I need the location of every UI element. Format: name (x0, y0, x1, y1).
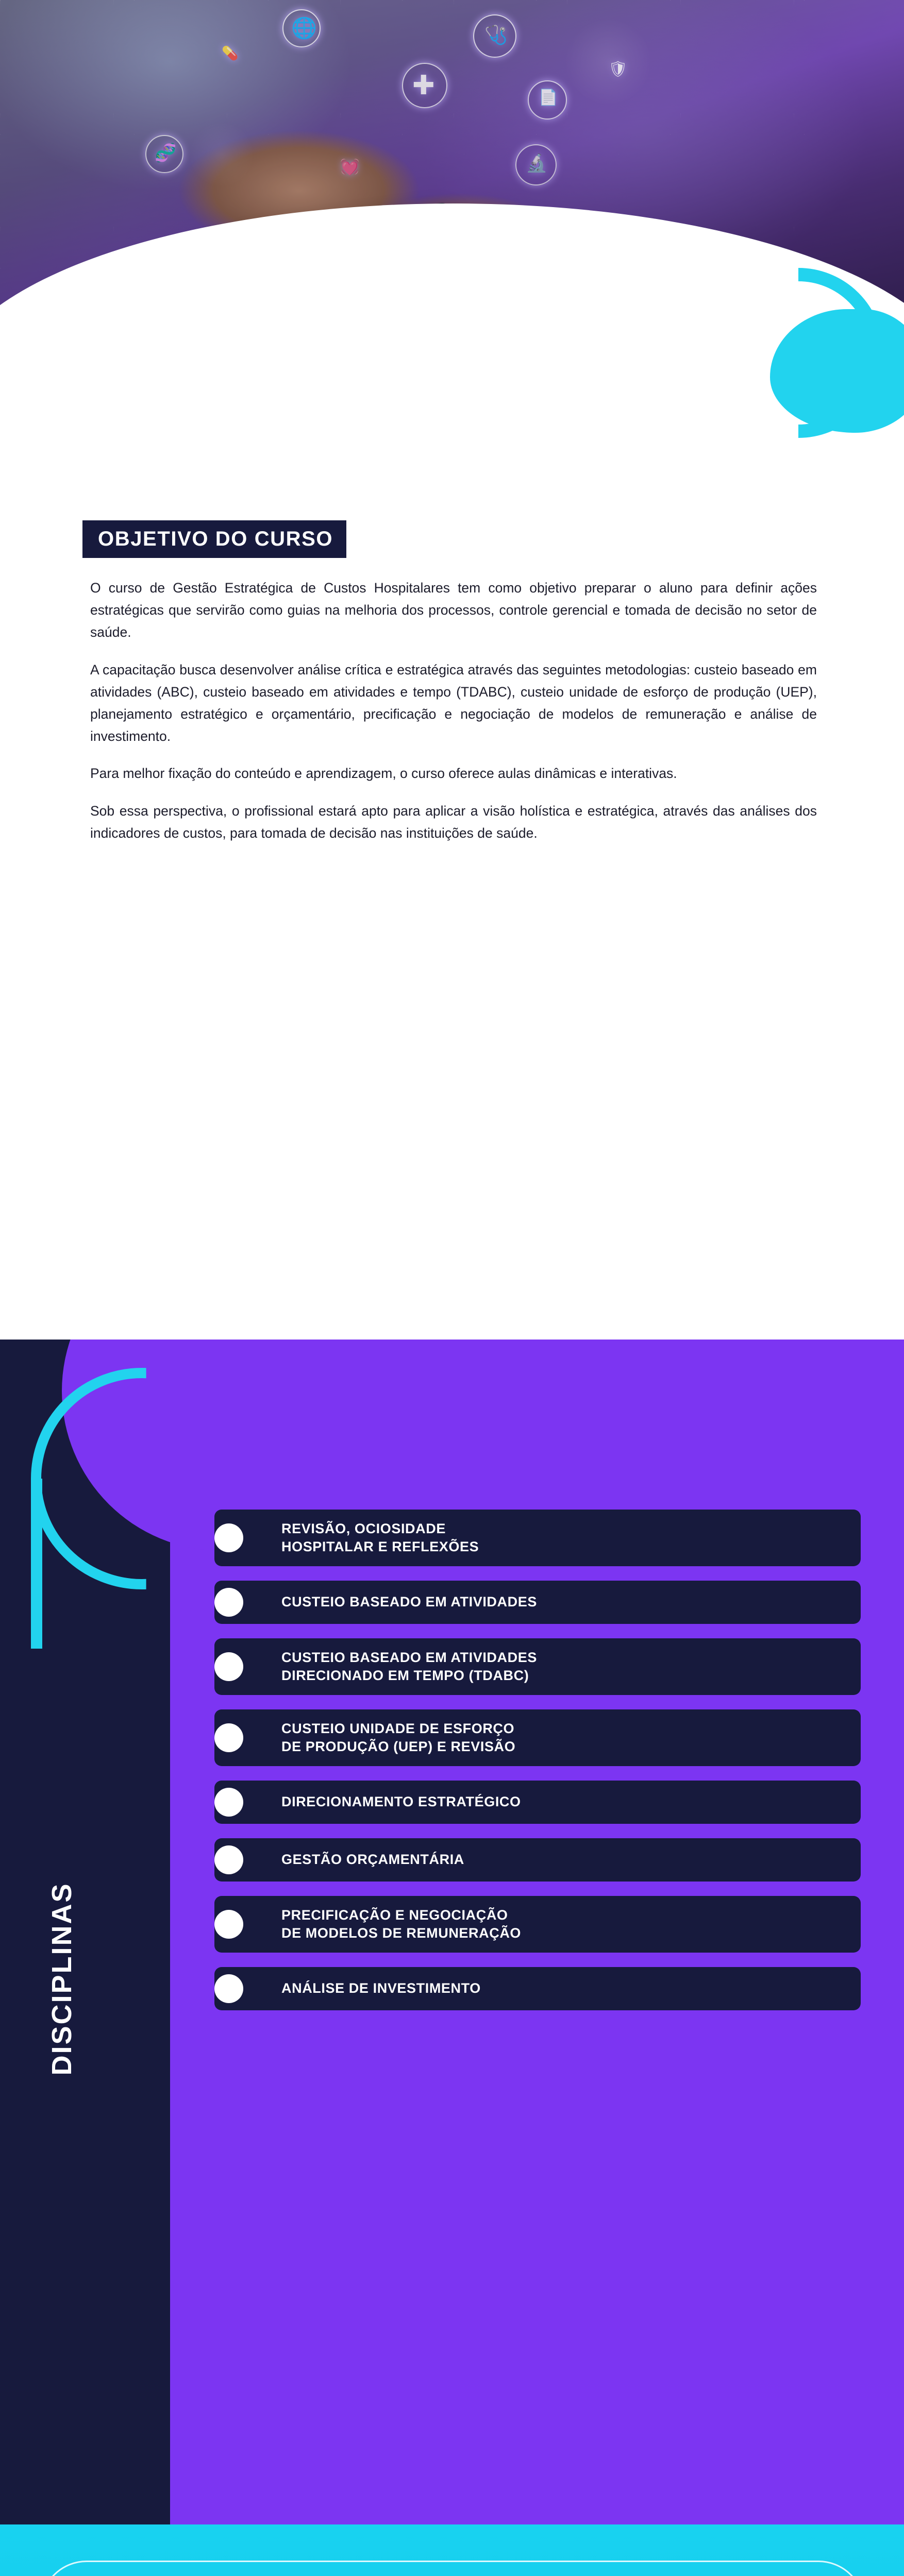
list-item: DIRECIONAMENTO ESTRATÉGICO (196, 1781, 861, 1824)
course-flyer-page: 🌐 ✚ 🩺 🧬 💓 🔬 📄 💊 🛡 OBJ (0, 0, 904, 2576)
hero-white-curve (0, 204, 904, 495)
objective-paragraph-3: Para melhor fixação do conteúdo e aprend… (90, 762, 817, 785)
bullet-circle-icon (214, 1910, 243, 1939)
list-item: PRECIFICAÇÃO E NEGOCIAÇÃO DE MODELOS DE … (196, 1896, 861, 1953)
discipline-line: DE PRODUÇÃO (UEP) E REVISÃO (281, 1738, 515, 1756)
discipline-text: CUSTEIO BASEADO EM ATIVIDADES (281, 1593, 537, 1611)
objective-paragraph-2: A capacitação busca desenvolver análise … (90, 659, 817, 748)
discipline-line: DE MODELOS DE REMUNERAÇÃO (281, 1924, 521, 1942)
discipline-bar: CUSTEIO UNIDADE DE ESFORÇO DE PRODUÇÃO (… (214, 1709, 861, 1766)
discipline-bar: PRECIFICAÇÃO E NEGOCIAÇÃO DE MODELOS DE … (214, 1896, 861, 1953)
document-icon: 📄 (539, 90, 558, 106)
disciplinas-cyan-strip (31, 1479, 42, 1649)
disciplinas-list: REVISÃO, OCIOSIDADE HOSPITALAR E REFLEXÕ… (196, 1510, 861, 2025)
discipline-bar: DIRECIONAMENTO ESTRATÉGICO (214, 1781, 861, 1824)
list-item: CUSTEIO UNIDADE DE ESFORÇO DE PRODUÇÃO (… (196, 1709, 861, 1766)
novidade-frame (40, 2561, 865, 2576)
bullet-circle-icon (214, 1588, 243, 1617)
objective-title-wrap: OBJETIVO DO CURSO (82, 520, 346, 558)
stethoscope-icon: 🩺 (484, 26, 508, 44)
disciplinas-section: DISCIPLINAS REVISÃO, OCIOSIDADE HOSPITAL… (0, 1340, 904, 2524)
list-item: CUSTEIO BASEADO EM ATIVIDADES DIRECIONAD… (196, 1638, 861, 1695)
pill-icon: 💊 (222, 46, 238, 60)
microscope-icon: 🔬 (526, 155, 547, 172)
cross-ring (402, 63, 447, 108)
globe-ring (282, 9, 321, 47)
objective-title: OBJETIVO DO CURSO (82, 520, 346, 558)
discipline-bar: CUSTEIO BASEADO EM ATIVIDADES (214, 1581, 861, 1624)
discipline-bar: CUSTEIO BASEADO EM ATIVIDADES DIRECIONAD… (214, 1638, 861, 1695)
bullet-circle-icon (214, 1974, 243, 2003)
discipline-line: DIRECIONAMENTO ESTRATÉGICO (281, 1793, 521, 1811)
discipline-line: REVISÃO, OCIOSIDADE (281, 1520, 479, 1538)
discipline-bar: REVISÃO, OCIOSIDADE HOSPITALAR E REFLEXÕ… (214, 1510, 861, 1566)
heartbeat-icon: 💓 (340, 160, 359, 175)
disciplinas-label: DISCIPLINAS (46, 1845, 78, 2113)
discipline-line: CUSTEIO BASEADO EM ATIVIDADES (281, 1649, 537, 1667)
novidade-section: AFONSO JOSÉ DE MATOS ORGANIZADORES MARCE… (0, 2524, 904, 2576)
cross-icon: ✚ (412, 72, 435, 99)
discipline-line: ANÁLISE DE INVESTIMENTO (281, 1979, 481, 1997)
document-ring (528, 80, 567, 120)
discipline-line: CUSTEIO UNIDADE DE ESFORÇO (281, 1720, 515, 1738)
list-item: REVISÃO, OCIOSIDADE HOSPITALAR E REFLEXÕ… (196, 1510, 861, 1566)
discipline-text: REVISÃO, OCIOSIDADE HOSPITALAR E REFLEXÕ… (281, 1520, 479, 1556)
bullet-circle-icon (214, 1723, 243, 1752)
microscope-ring (515, 144, 557, 185)
discipline-text: CUSTEIO BASEADO EM ATIVIDADES DIRECIONAD… (281, 1649, 537, 1685)
hero-section: 🌐 ✚ 🩺 🧬 💓 🔬 📄 💊 🛡 (0, 0, 904, 495)
bullet-circle-icon (214, 1788, 243, 1817)
objective-paragraph-1: O curso de Gestão Estratégica de Custos … (90, 577, 817, 643)
objective-section: OBJETIVO DO CURSO O curso de Gestão Estr… (0, 453, 904, 1340)
objective-body: O curso de Gestão Estratégica de Custos … (90, 577, 817, 860)
discipline-bar: ANÁLISE DE INVESTIMENTO (214, 1967, 861, 2010)
discipline-text: GESTÃO ORÇAMENTÁRIA (281, 1851, 464, 1869)
objective-paragraph-4: Sob essa perspectiva, o profissional est… (90, 800, 817, 844)
stethoscope-ring (473, 14, 516, 58)
discipline-bar: GESTÃO ORÇAMENTÁRIA (214, 1838, 861, 1882)
discipline-line: PRECIFICAÇÃO E NEGOCIAÇÃO (281, 1906, 521, 1924)
discipline-line: GESTÃO ORÇAMENTÁRIA (281, 1851, 464, 1869)
discipline-text: PRECIFICAÇÃO E NEGOCIAÇÃO DE MODELOS DE … (281, 1906, 521, 1942)
discipline-text: CUSTEIO UNIDADE DE ESFORÇO DE PRODUÇÃO (… (281, 1720, 515, 1756)
discipline-line: HOSPITALAR E REFLEXÕES (281, 1538, 479, 1556)
globe-icon: 🌐 (291, 18, 317, 39)
discipline-line: CUSTEIO BASEADO EM ATIVIDADES (281, 1593, 537, 1611)
discipline-line: DIRECIONADO EM TEMPO (TDABC) (281, 1667, 537, 1685)
bullet-circle-icon (214, 1845, 243, 1874)
list-item: CUSTEIO BASEADO EM ATIVIDADES (196, 1581, 861, 1624)
shield-icon: 🛡 (608, 62, 628, 77)
bullet-circle-icon (214, 1523, 243, 1552)
dna-icon: 🧬 (155, 144, 176, 162)
dna-ring (145, 135, 183, 173)
list-item: ANÁLISE DE INVESTIMENTO (196, 1967, 861, 2010)
discipline-text: ANÁLISE DE INVESTIMENTO (281, 1979, 481, 1997)
list-item: GESTÃO ORÇAMENTÁRIA (196, 1838, 861, 1882)
discipline-text: DIRECIONAMENTO ESTRATÉGICO (281, 1793, 521, 1811)
bullet-circle-icon (214, 1652, 243, 1681)
